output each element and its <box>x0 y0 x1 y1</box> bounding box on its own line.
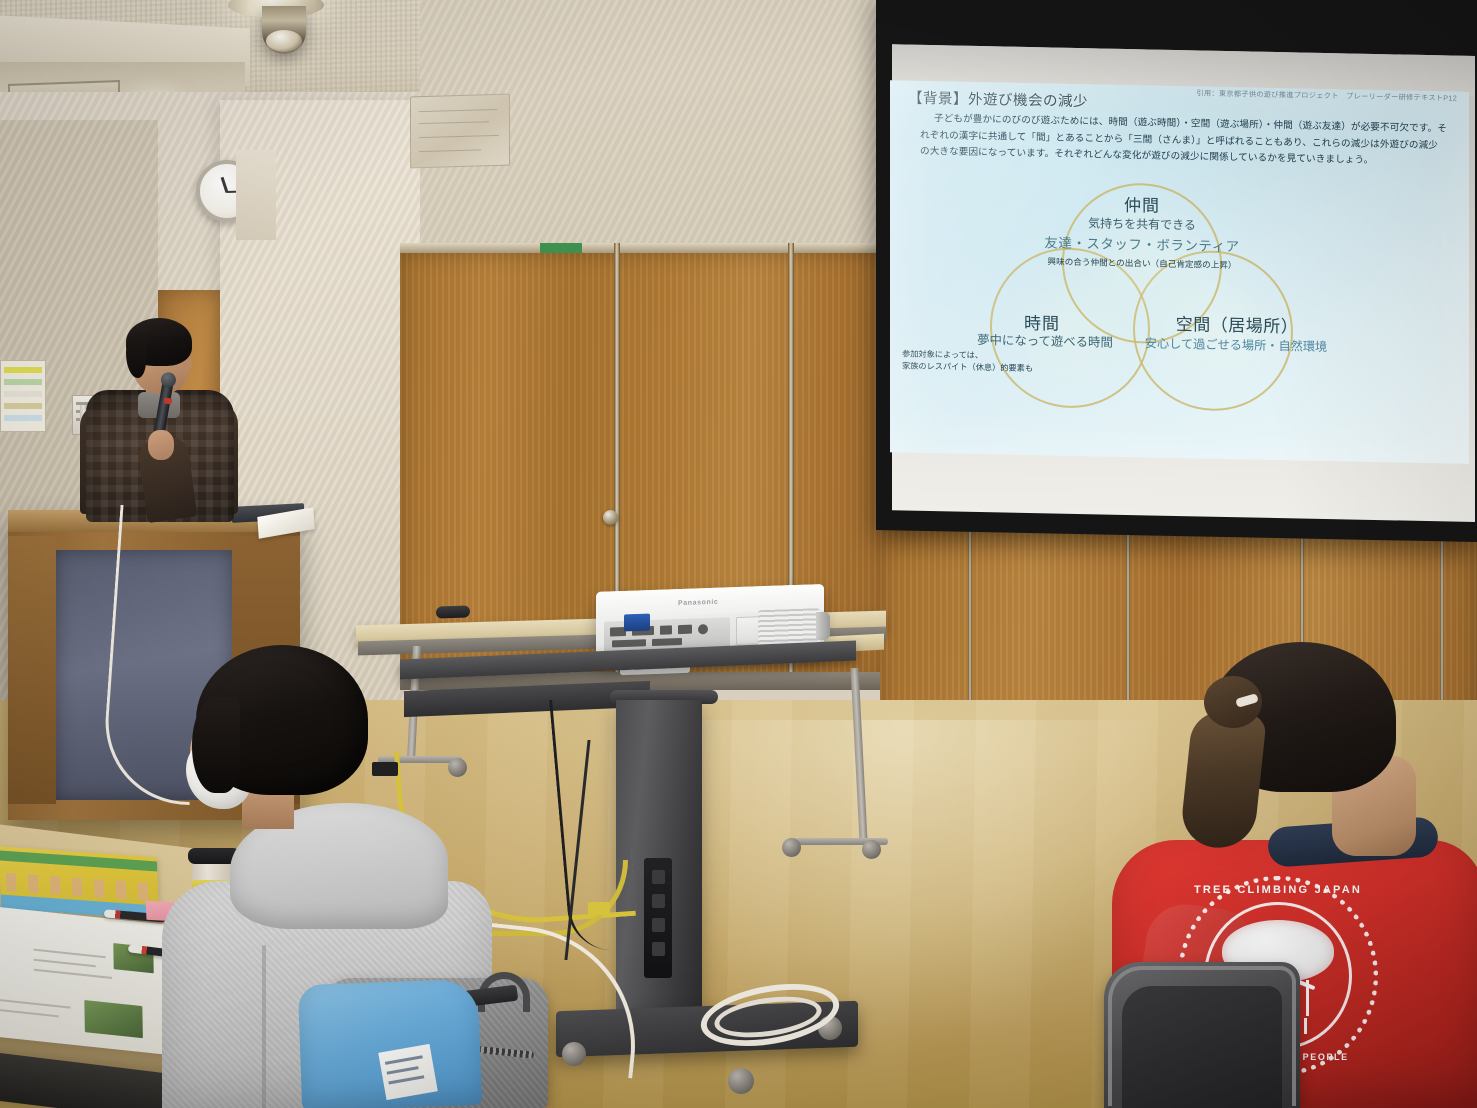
slide-title: 【背景】外遊び機会の減少 <box>908 87 1088 112</box>
projection-screen: 【背景】外遊び機会の減少 引用：東京都子供の遊び推進プロジェクト プレーリーダー… <box>876 0 1477 542</box>
podium-side <box>8 536 56 804</box>
projector-brand-label: Panasonic <box>678 599 718 607</box>
presenter <box>86 318 236 518</box>
slide-credit: 引用：東京都子供の遊び推進プロジェクト プレーリーダー研修テキストP12 <box>1196 88 1457 103</box>
projected-slide: 【背景】外遊び機会の減少 引用：東京都子供の遊び推進プロジェクト プレーリーダー… <box>890 80 1469 464</box>
caster-wheel <box>782 838 801 857</box>
partition-rail <box>400 243 890 253</box>
venn-diagram: 仲間 気持ちを共有できる 友達・スタッフ・ボランティア 興味の合う仲間との出合い… <box>890 176 1469 448</box>
chair-frame <box>1108 966 1296 1106</box>
door-knob-icon[interactable] <box>603 510 618 525</box>
green-tape-marker <box>540 243 582 253</box>
caster-wheel <box>862 840 881 859</box>
yellow-booklet[interactable] <box>0 846 159 919</box>
seminar-room-photo: 【背景】外遊び機会の減少 引用：東京都子供の遊び推進プロジェクト プレーリーダー… <box>0 0 1477 1108</box>
jacket-tag <box>378 1044 438 1100</box>
ponytail <box>1179 709 1267 852</box>
caster-wheel <box>728 1068 754 1094</box>
projector-lens-icon <box>816 612 830 640</box>
wall-panel-plate <box>410 94 510 169</box>
wall-occluder <box>236 150 276 240</box>
slide-body-text: 子どもが豊かにのびのび遊ぶためには、時間（遊ぶ時間）・空間（遊ぶ場所）・仲間（遊… <box>920 111 1447 171</box>
logo-top-text: TREE CLIMBING JAPAN <box>1178 884 1378 896</box>
venn-note: 参加対象によっては、 家族のレスパイト（休息）的要素も <box>902 348 1082 375</box>
microphone-indicator <box>164 397 173 404</box>
presenter-hair-side <box>126 336 146 378</box>
presenter-hand <box>148 430 174 460</box>
hoodie-seam <box>262 945 266 1108</box>
cable-connector <box>588 902 610 915</box>
black-object-on-table <box>436 605 470 618</box>
notice-board <box>0 360 46 432</box>
attendee-hair-side <box>192 697 240 793</box>
vga-cable-plug <box>624 614 650 632</box>
spotlight-fixture-icon <box>262 6 306 54</box>
